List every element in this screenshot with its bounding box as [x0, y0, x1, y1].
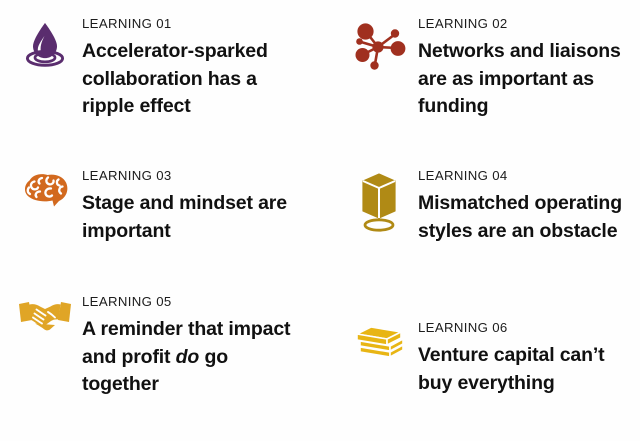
eyebrow-label: LEARNING 01 [82, 16, 308, 32]
brain-icon [8, 168, 82, 214]
learning-text-06: LEARNING 06 Venture capital can’t buy ev… [418, 320, 636, 397]
headline-text: A reminder that impact and profit do go … [82, 316, 308, 399]
headline-part-pre: Accelerator-sparked collaboration has a … [82, 40, 268, 117]
learning-text-02: LEARNING 02 Networks and liaisons are as… [418, 16, 636, 121]
learnings-grid: LEARNING 01 Accelerator-sparked collabor… [0, 0, 640, 441]
eyebrow-label: LEARNING 02 [418, 16, 636, 32]
headline-part-emphasis: do [176, 346, 200, 368]
eyebrow-label: LEARNING 03 [82, 168, 308, 184]
square-peg-round-hole-icon [340, 168, 418, 234]
handshake-icon [8, 294, 82, 338]
learning-card-02: LEARNING 02 Networks and liaisons are as… [340, 16, 636, 121]
eyebrow-label: LEARNING 06 [418, 320, 636, 336]
headline-part-pre: Venture capital can’t buy everything [418, 344, 605, 394]
learning-card-01: LEARNING 01 Accelerator-sparked collabor… [8, 16, 308, 121]
headline-text: Accelerator-sparked collaboration has a … [82, 38, 308, 121]
learning-card-05: LEARNING 05 A reminder that impact and p… [8, 294, 308, 399]
learning-card-03: LEARNING 03 Stage and mindset are import… [8, 168, 308, 245]
headline-text: Networks and liaisons are as important a… [418, 38, 636, 121]
money-stack-icon [340, 320, 418, 364]
headline-text: Stage and mindset are important [82, 190, 308, 245]
headline-part-pre: Stage and mindset are important [82, 192, 287, 242]
learning-card-06: LEARNING 06 Venture capital can’t buy ev… [340, 320, 636, 397]
headline-part-pre: Mismatched operating styles are an obsta… [418, 192, 622, 242]
eyebrow-label: LEARNING 04 [418, 168, 636, 184]
learning-card-04: LEARNING 04 Mismatched operating styles … [340, 168, 636, 245]
learning-text-04: LEARNING 04 Mismatched operating styles … [418, 168, 636, 245]
water-droplet-ripple-icon [8, 16, 82, 74]
headline-text: Venture capital can’t buy everything [418, 342, 636, 397]
learning-text-05: LEARNING 05 A reminder that impact and p… [82, 294, 308, 399]
eyebrow-label: LEARNING 05 [82, 294, 308, 310]
headline-text: Mismatched operating styles are an obsta… [418, 190, 636, 245]
network-nodes-icon [340, 16, 418, 76]
learning-text-01: LEARNING 01 Accelerator-sparked collabor… [82, 16, 308, 121]
headline-part-pre: Networks and liaisons are as important a… [418, 40, 621, 117]
learning-text-03: LEARNING 03 Stage and mindset are import… [82, 168, 308, 245]
